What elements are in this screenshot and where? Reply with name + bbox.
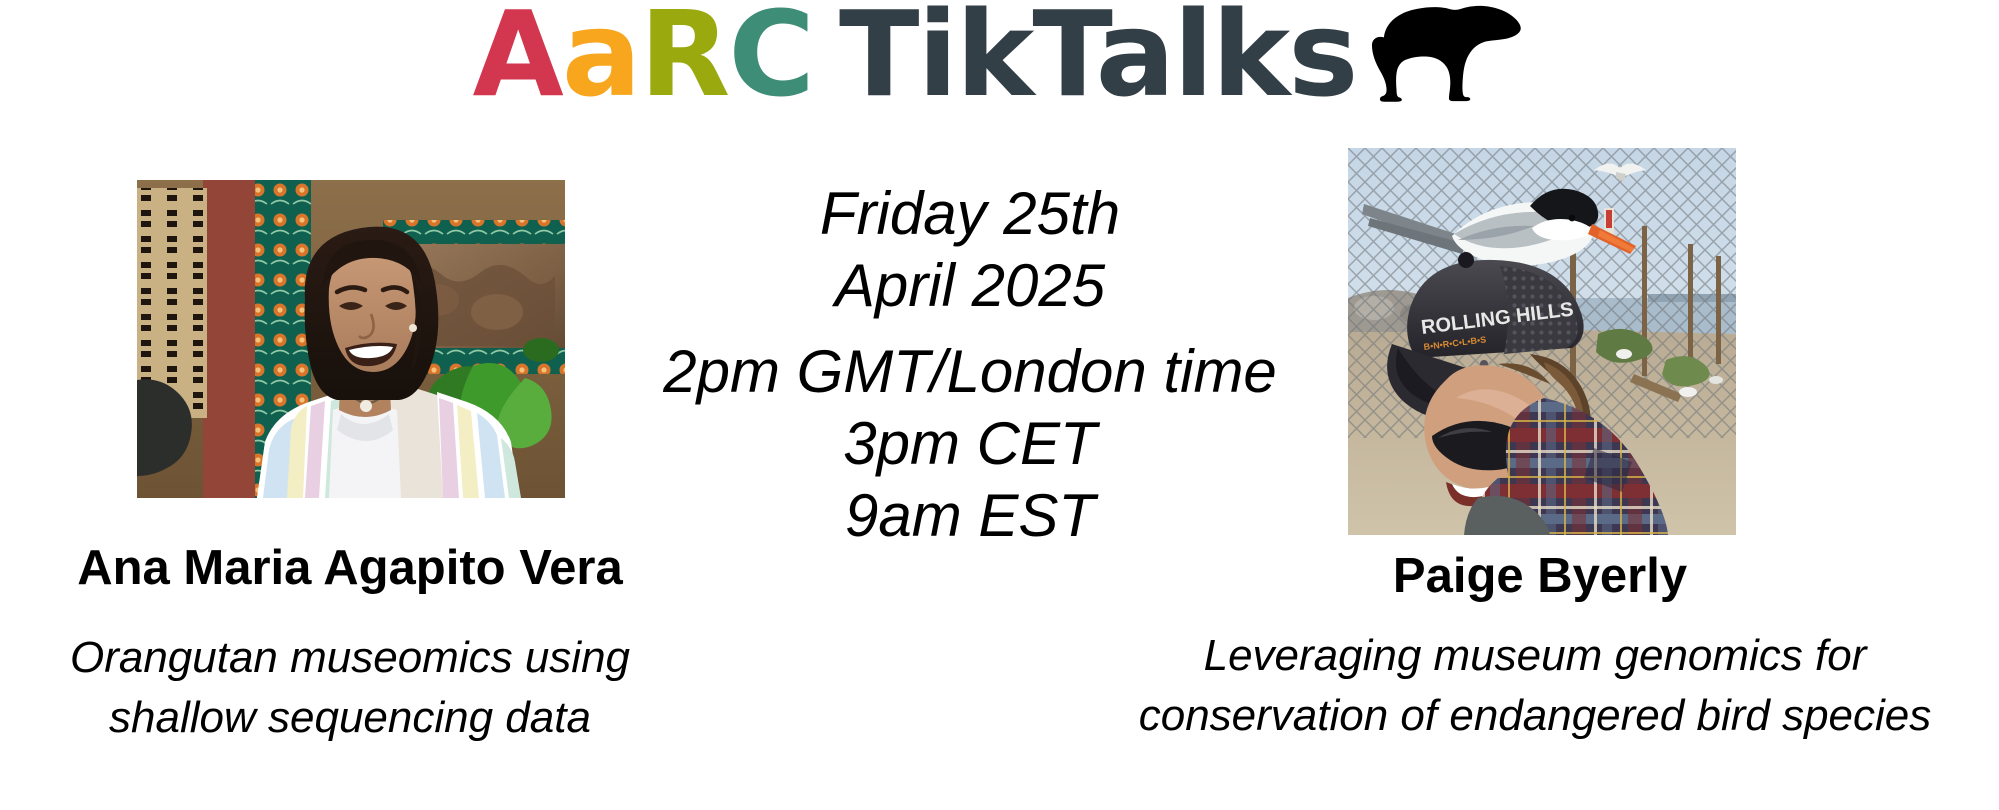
speaker-photo-left bbox=[137, 180, 565, 498]
speaker-talk-right-line1: Leveraging museum genomics for bbox=[1070, 626, 1999, 686]
event-day: Friday 25th bbox=[590, 178, 1350, 250]
brand-header: AaRCTikTalks bbox=[0, 0, 1999, 119]
event-time-cet: 3pm CET bbox=[590, 408, 1350, 480]
brand-letter-r-olive: R bbox=[640, 0, 729, 123]
brand-letter-a-orange: a bbox=[562, 0, 640, 123]
speaker-name-right: Paige Byerly bbox=[1090, 548, 1990, 604]
polar-bear-icon bbox=[1360, 0, 1526, 104]
speaker-talk-right: Leveraging museum genomics for conservat… bbox=[1070, 626, 1999, 746]
speaker-talk-left: Orangutan museomics using shallow sequen… bbox=[0, 628, 700, 748]
event-time-gmt: 2pm GMT/London time bbox=[590, 336, 1350, 408]
brand-suffix-tiktalks: TikTalks bbox=[839, 0, 1356, 123]
speaker-name-left: Ana Maria Agapito Vera bbox=[0, 540, 700, 596]
event-details: Friday 25th April 2025 2pm GMT/London ti… bbox=[590, 178, 1350, 552]
brand-letter-a-red: A bbox=[473, 0, 562, 123]
event-month-year: April 2025 bbox=[590, 250, 1350, 322]
brand-title: AaRCTikTalks bbox=[473, 0, 1357, 114]
speaker-talk-left-line2: shallow sequencing data bbox=[0, 688, 700, 748]
speaker-talk-left-line1: Orangutan museomics using bbox=[0, 628, 700, 688]
speaker-talk-right-line2: conservation of endangered bird species bbox=[1070, 686, 1999, 746]
speaker-photo-right: ROLLING HILLS B•N•R•C•L•B•S bbox=[1348, 148, 1736, 535]
event-time-est: 9am EST bbox=[590, 480, 1350, 552]
brand-letter-c-teal: C bbox=[728, 0, 813, 123]
